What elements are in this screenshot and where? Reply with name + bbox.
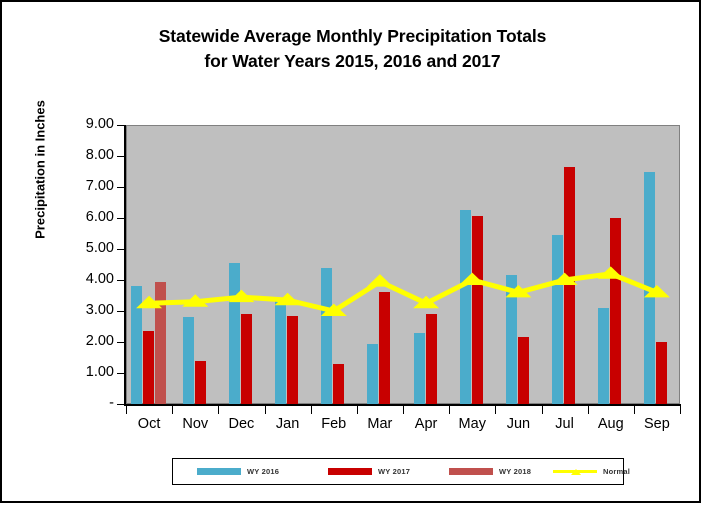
y-axis-tick xyxy=(117,280,125,281)
x-axis-tick xyxy=(311,405,312,414)
bar-wy-2016-dec xyxy=(229,263,240,404)
legend-swatch-icon xyxy=(328,468,372,475)
y-axis-tick xyxy=(117,311,125,312)
x-axis-tick xyxy=(172,405,173,414)
x-axis-tick xyxy=(495,405,496,414)
y-axis-tick xyxy=(117,342,125,343)
bar-wy-2017-aug xyxy=(610,218,621,404)
legend-item-normal[interactable]: Normal xyxy=(553,459,630,484)
bar-wy-2017-mar xyxy=(379,292,390,404)
legend-label: WY 2017 xyxy=(378,467,410,476)
bar-wy-2017-jul xyxy=(564,167,575,404)
bar-wy-2016-jul xyxy=(552,235,563,404)
bar-wy-2017-feb xyxy=(333,364,344,404)
bar-wy-2016-nov xyxy=(183,317,194,404)
bar-wy-2017-nov xyxy=(195,361,206,404)
bar-wy-2018-oct xyxy=(155,282,166,404)
legend-item-wy-2018[interactable]: WY 2018 xyxy=(449,459,531,484)
bar-wy-2017-jun xyxy=(518,337,529,404)
y-axis-tick xyxy=(117,187,125,188)
bar-wy-2016-oct xyxy=(131,286,142,404)
x-axis-tick xyxy=(357,405,358,414)
legend-label: WY 2018 xyxy=(499,467,531,476)
y-axis-labels: 9.008.007.006.005.004.003.002.001.00- xyxy=(58,2,114,505)
y-axis-tick xyxy=(117,404,125,405)
chart-legend: WY 2016WY 2017WY 2018Normal xyxy=(172,458,624,485)
bar-wy-2017-oct xyxy=(143,331,154,404)
bar-wy-2017-may xyxy=(472,216,483,404)
y-axis-tick-label: - xyxy=(62,396,114,411)
y-axis-tick-label: 3.00 xyxy=(62,303,114,318)
y-axis-tick-label: 8.00 xyxy=(62,148,114,163)
y-axis-tick xyxy=(117,125,125,126)
x-axis-tick xyxy=(588,405,589,414)
x-axis-tick-label: Sep xyxy=(627,416,687,432)
legend-item-wy-2016[interactable]: WY 2016 xyxy=(197,459,279,484)
x-axis-tick xyxy=(449,405,450,414)
y-axis-tick xyxy=(117,218,125,219)
y-axis-tick xyxy=(117,249,125,250)
y-axis-tick-label: 6.00 xyxy=(62,210,114,225)
y-axis-tick-label: 2.00 xyxy=(62,334,114,349)
chart-title-line-1: Statewide Average Monthly Precipitation … xyxy=(159,26,547,46)
bar-wy-2016-aug xyxy=(598,308,609,404)
y-axis-tick xyxy=(117,373,125,374)
y-axis-tick-label: 4.00 xyxy=(62,272,114,287)
bar-wy-2016-feb xyxy=(321,268,332,404)
x-axis-tick xyxy=(218,405,219,414)
bar-wy-2016-mar xyxy=(367,344,378,404)
legend-swatch-icon xyxy=(197,468,241,475)
legend-label: WY 2016 xyxy=(247,467,279,476)
bar-wy-2017-dec xyxy=(241,314,252,404)
y-axis-tick-label: 7.00 xyxy=(62,179,114,194)
bar-layer xyxy=(126,125,680,404)
legend-item-wy-2017[interactable]: WY 2017 xyxy=(328,459,410,484)
y-axis-tick-label: 5.00 xyxy=(62,241,114,256)
x-axis-tick xyxy=(403,405,404,414)
bar-wy-2016-apr xyxy=(414,333,425,404)
bar-wy-2016-jun xyxy=(506,275,517,404)
legend-swatch-icon xyxy=(449,468,493,475)
bar-wy-2016-may xyxy=(460,210,471,404)
x-axis-tick xyxy=(542,405,543,414)
y-axis-tick-label: 9.00 xyxy=(62,117,114,132)
y-axis-tick xyxy=(117,156,125,157)
bar-wy-2017-jan xyxy=(287,316,298,404)
bar-wy-2016-sep xyxy=(644,172,655,405)
bar-wy-2017-sep xyxy=(656,342,667,404)
y-axis-tick-label: 1.00 xyxy=(62,365,114,380)
x-axis-tick xyxy=(634,405,635,414)
bar-wy-2017-apr xyxy=(426,314,437,404)
x-axis-tick xyxy=(126,405,127,414)
y-axis-title: Precipitation in Inches xyxy=(33,70,48,270)
bar-wy-2016-jan xyxy=(275,300,286,404)
legend-label: Normal xyxy=(603,467,630,476)
legend-line-icon xyxy=(553,467,597,476)
chart-frame: Statewide Average Monthly Precipitation … xyxy=(0,0,701,503)
x-axis-tick xyxy=(680,405,681,414)
x-axis-tick xyxy=(265,405,266,414)
